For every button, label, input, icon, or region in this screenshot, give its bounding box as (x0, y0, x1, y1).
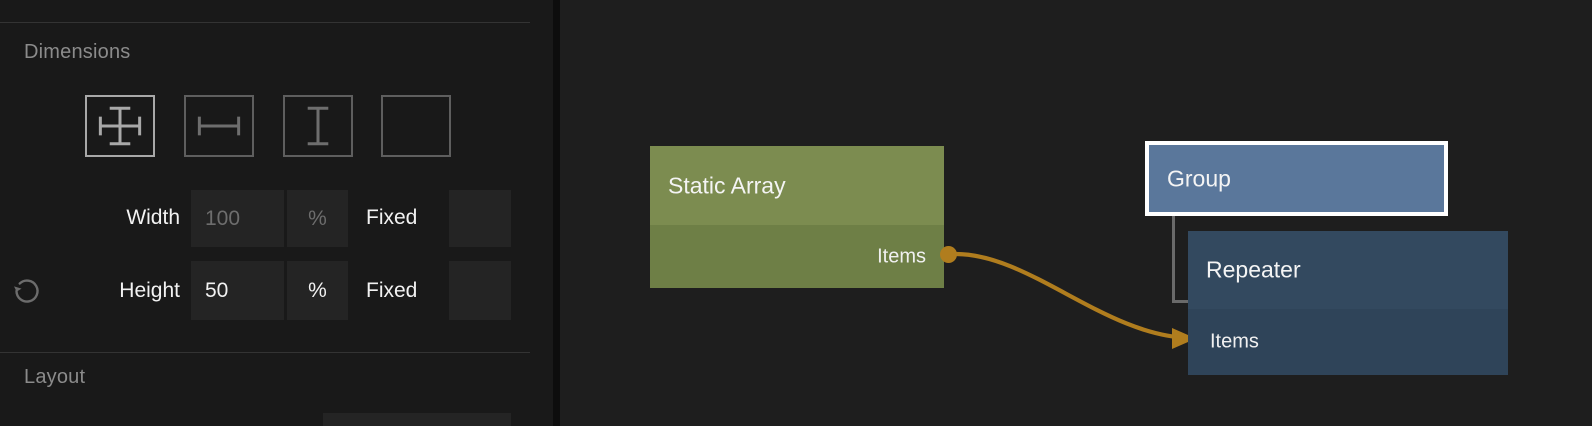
static-array-node[interactable]: Static Array Items (650, 146, 944, 288)
wire-path (956, 254, 1190, 338)
section-header-layout: Layout (24, 366, 85, 389)
group-node-title: Group (1167, 165, 1231, 192)
static-array-header[interactable]: Static Array (650, 146, 944, 225)
dimension-mode-fixed[interactable] (381, 95, 451, 157)
repeater-node-header[interactable]: Repeater (1188, 231, 1508, 309)
height-value-input[interactable]: 50 (191, 261, 284, 320)
static-array-output-port-dot[interactable] (940, 246, 957, 263)
tree-connector-vertical (1172, 213, 1175, 303)
row-label-width: Width (0, 206, 180, 230)
divider-layout (0, 352, 530, 353)
width-unit-select[interactable]: % (287, 190, 348, 247)
fill-vertical-icon (285, 97, 351, 155)
height-unit-select[interactable]: % (287, 261, 348, 320)
panel-resize-handle[interactable] (553, 0, 560, 426)
height-value-text: 50 (191, 279, 284, 303)
dimension-mode-fill-vertical[interactable] (283, 95, 353, 157)
fixed-size-icon (383, 97, 449, 155)
divider-top (0, 22, 530, 23)
width-mode-label[interactable]: Fixed (366, 206, 417, 230)
group-node-header[interactable]: Group (1149, 145, 1444, 212)
static-array-title: Static Array (668, 172, 786, 199)
layout-first-field[interactable] (323, 413, 511, 426)
section-header-dimensions: Dimensions (24, 41, 130, 64)
height-unit-text: % (287, 279, 348, 303)
repeater-node[interactable]: Repeater Items (1188, 231, 1508, 375)
width-unit-text: % (287, 207, 348, 231)
node-graph-canvas[interactable]: Static Array Items Group Repeater Items (560, 0, 1592, 426)
dimension-mode-fill-both[interactable] (85, 95, 155, 157)
static-array-output-port-label[interactable]: Items (877, 245, 926, 268)
height-mode-label[interactable]: Fixed (366, 279, 417, 303)
repeater-node-body: Items (1188, 309, 1508, 375)
row-label-height: Height (0, 279, 180, 303)
static-array-body: Items (650, 225, 944, 288)
width-value-input[interactable]: 100 (191, 190, 284, 247)
fill-both-icon (87, 97, 153, 155)
repeater-node-title: Repeater (1206, 257, 1301, 284)
width-value-text: 100 (191, 207, 284, 231)
width-extra-field[interactable] (449, 190, 511, 247)
app-root: Dimensions (0, 0, 1592, 426)
dimension-mode-fill-horizontal[interactable] (184, 95, 254, 157)
fill-horizontal-icon (186, 97, 252, 155)
group-node[interactable]: Group (1149, 145, 1444, 212)
inspector-panel: Dimensions (0, 0, 553, 426)
repeater-input-port-label[interactable]: Items (1210, 331, 1259, 354)
height-extra-field[interactable] (449, 261, 511, 320)
